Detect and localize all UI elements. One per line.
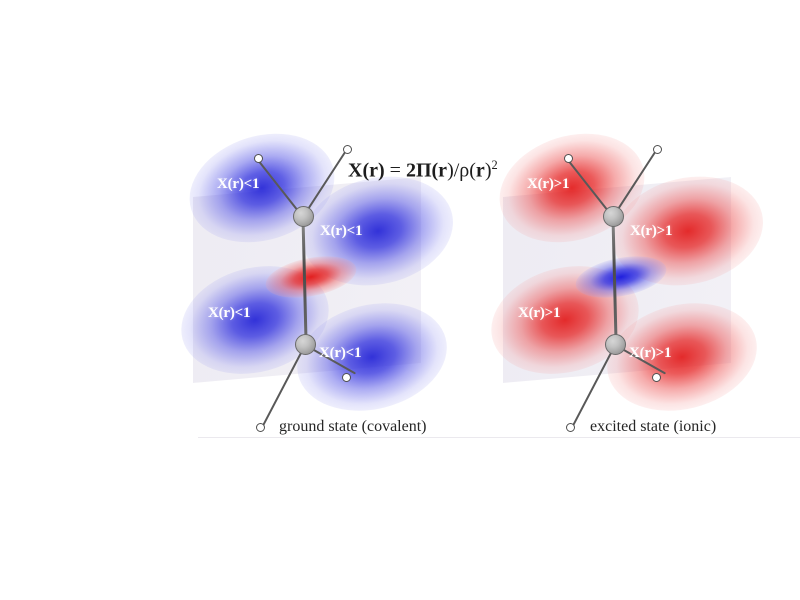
density-label-lower-left: X(r)<1 [208, 305, 250, 322]
density-label-upper-left: X(r)>1 [527, 176, 569, 193]
molecular-density-figure: X(r)<1 X(r)<1 X(r)<1 X(r)<1 [0, 0, 800, 600]
formula-equals: = [390, 160, 401, 182]
density-label-upper-right: X(r)<1 [320, 223, 362, 240]
density-label-lower-left: X(r)>1 [518, 305, 560, 322]
formula-rhs-numerator: 2Π( [406, 160, 438, 182]
hydrogen-lower-left [256, 423, 265, 432]
density-label-lower-right: X(r)>1 [629, 345, 671, 362]
panel-excited-state: X(r)>1 X(r)>1 X(r)>1 X(r)>1 [490, 0, 800, 460]
formula-exponent: 2 [491, 158, 497, 172]
caption-ground-state: ground state (covalent) [279, 418, 427, 436]
atom-upper [603, 206, 624, 227]
formula-definition: X(r) = 2Π(r)/ρ(r)2 [348, 158, 498, 183]
formula-lhs-var: r [369, 160, 378, 182]
caption-excited-state: excited state (ionic) [590, 418, 716, 436]
density-label-upper-right: X(r)>1 [630, 223, 672, 240]
atom-lower [605, 334, 626, 355]
hydrogen-upper-left [564, 154, 573, 163]
hydrogen-upper-right [343, 145, 352, 154]
hydrogen-lower-right [342, 373, 351, 382]
hydrogen-lower-left [566, 423, 575, 432]
hydrogen-lower-right [652, 373, 661, 382]
formula-lhs: X( [348, 160, 369, 182]
formula-rhs-mid: )/ρ( [447, 160, 476, 182]
density-label-upper-left: X(r)<1 [217, 176, 259, 193]
formula-rhs-var2: r [476, 160, 485, 182]
formula-rhs-var: r [438, 160, 447, 182]
figure-canvas: X(r)<1 X(r)<1 X(r)<1 X(r)<1 [0, 0, 800, 600]
atom-upper [293, 206, 314, 227]
panel-ground-state: X(r)<1 X(r)<1 X(r)<1 X(r)<1 [180, 0, 490, 460]
hydrogen-upper-right [653, 145, 662, 154]
density-label-lower-right: X(r)<1 [319, 345, 361, 362]
hydrogen-upper-left [254, 154, 263, 163]
figure-baseline-rule [198, 437, 800, 438]
atom-lower [295, 334, 316, 355]
formula-lhs-close: ) [378, 160, 385, 182]
